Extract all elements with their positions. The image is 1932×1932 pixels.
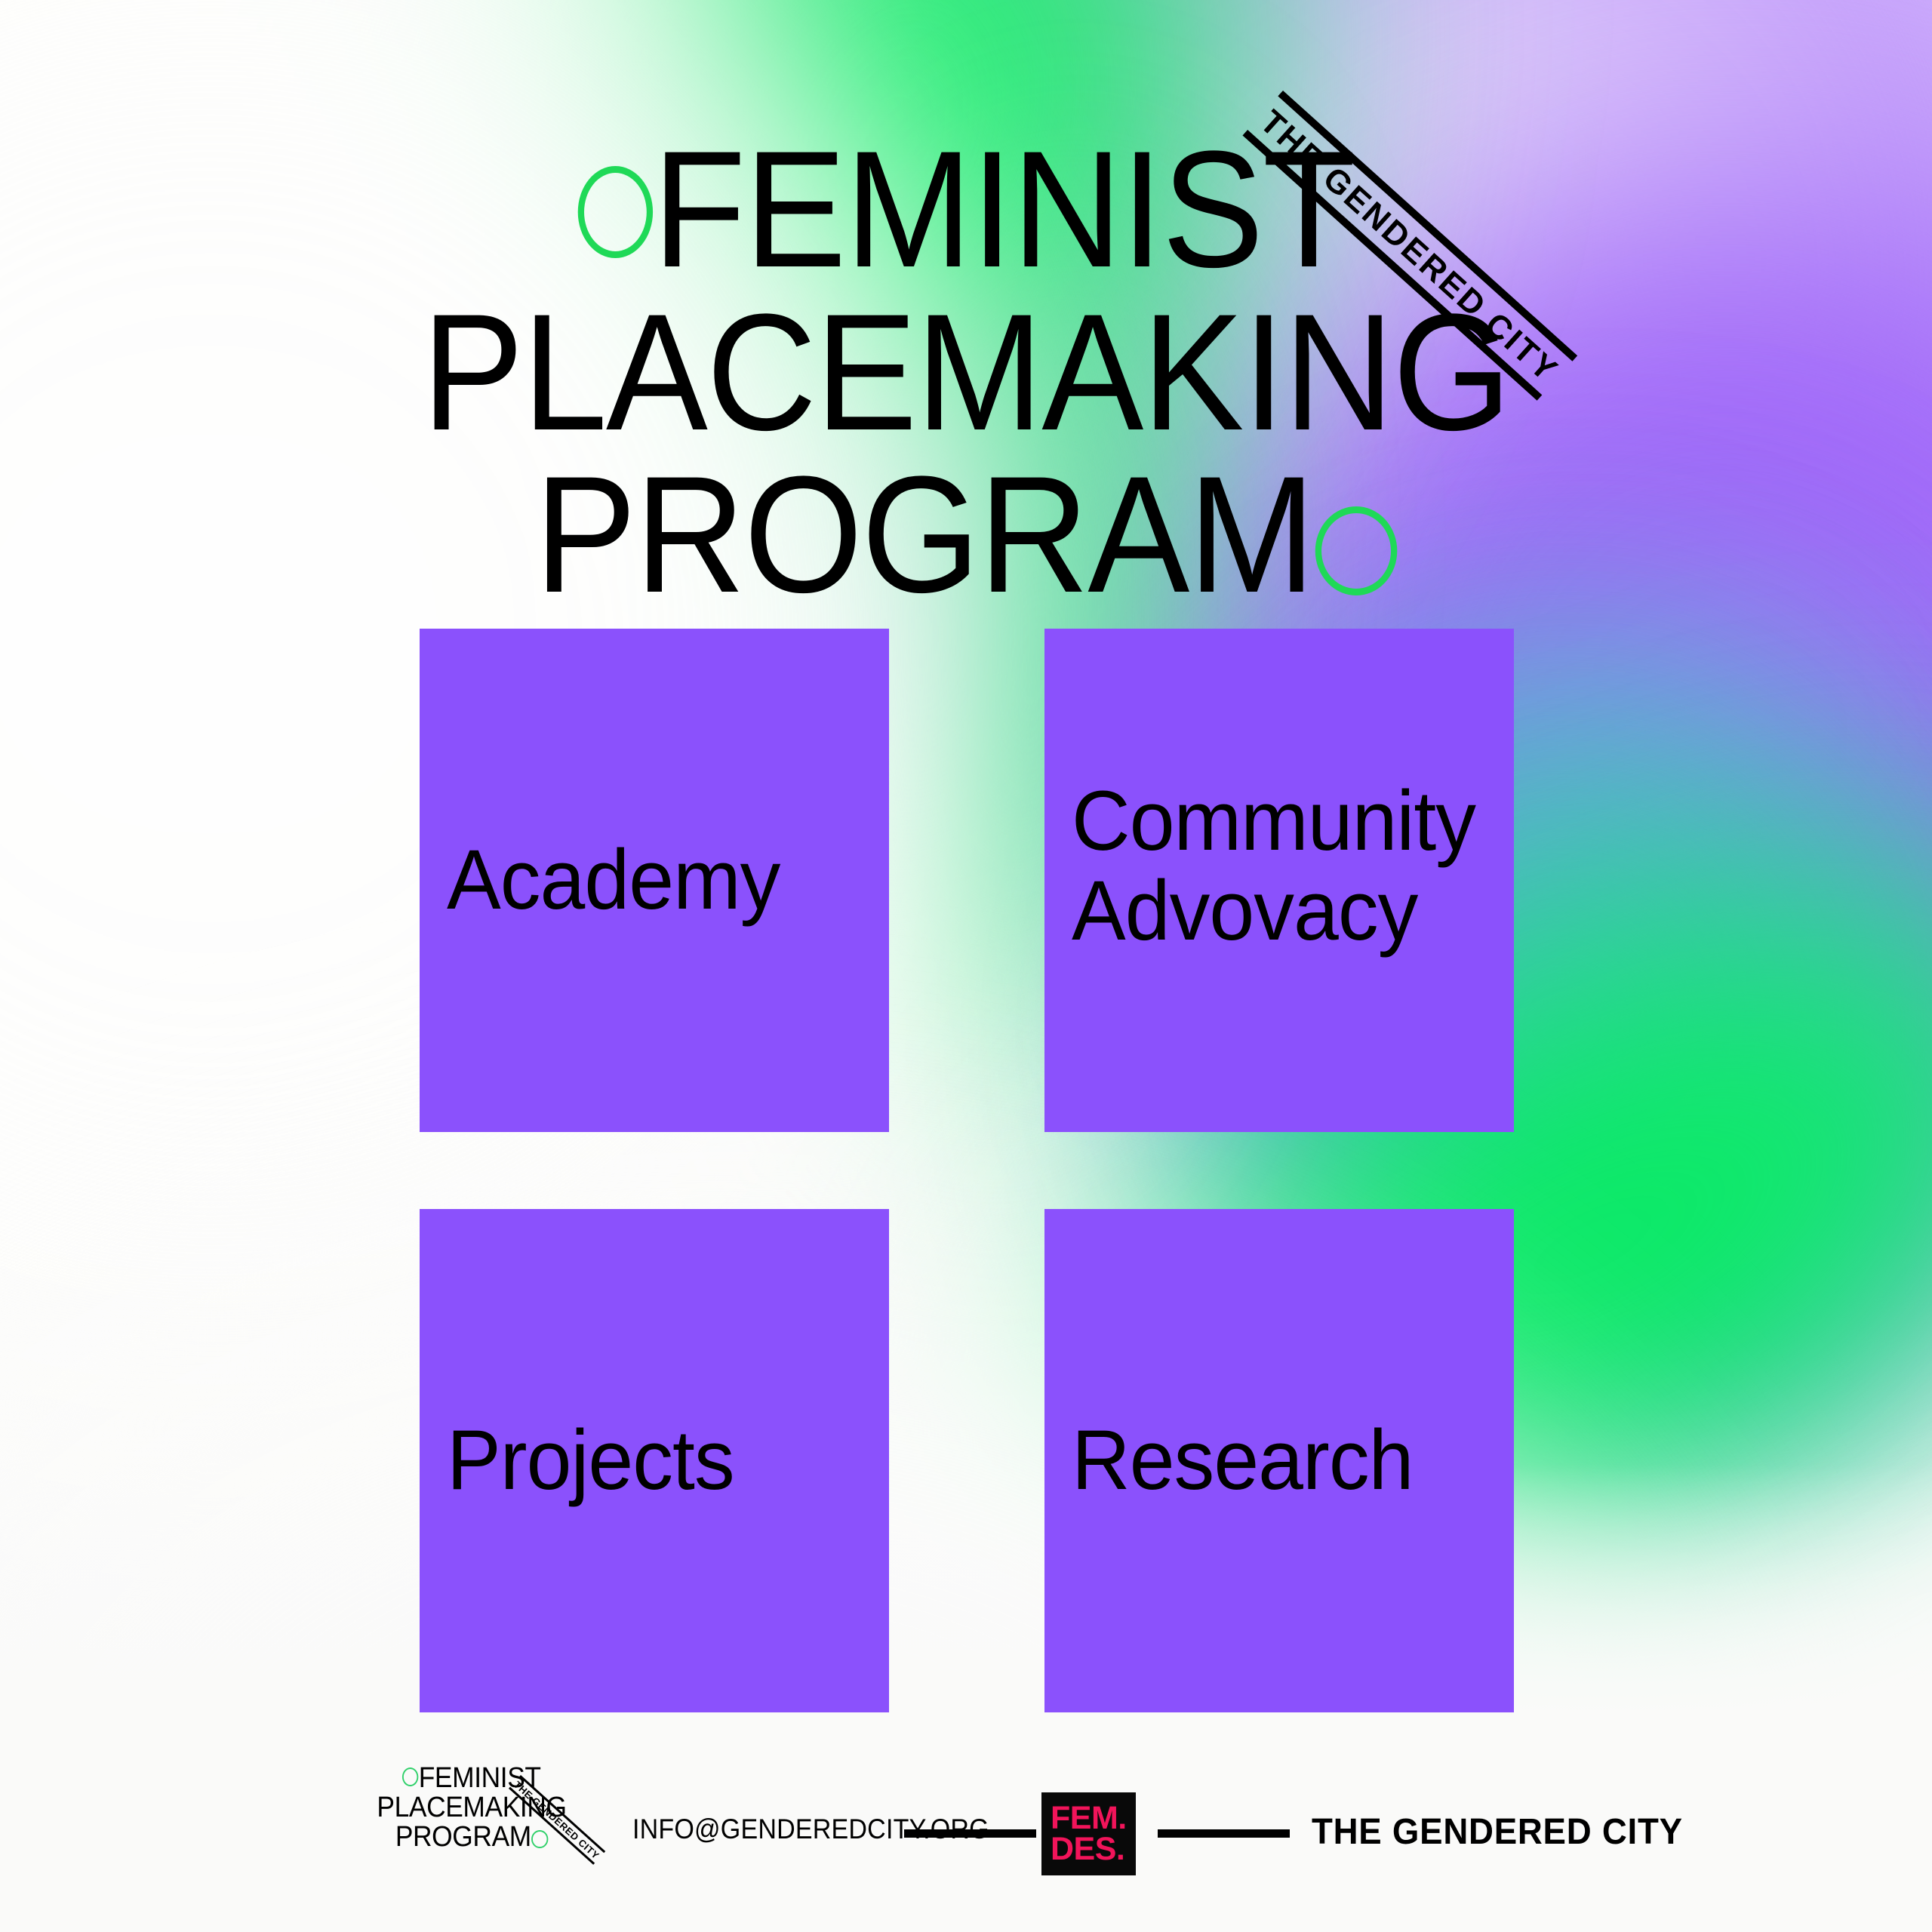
card-label: Research xyxy=(1072,1416,1413,1506)
femdes-line-2: DES. xyxy=(1051,1834,1136,1865)
card-label: Projects xyxy=(447,1416,734,1506)
card-label: Community Advovacy xyxy=(1072,777,1475,955)
footer-logo[interactable]: FEMINIST PLACEMAKING PROGRAM xyxy=(343,1764,600,1852)
card-academy[interactable]: Academy xyxy=(420,629,889,1132)
femdes-logo[interactable]: FEM. DES. xyxy=(1041,1792,1136,1875)
femdes-line-1: FEM. xyxy=(1051,1803,1136,1834)
card-label: Academy xyxy=(447,835,780,925)
card-label-line-2: Advovacy xyxy=(1072,866,1475,956)
headline-line-1: FEMINIST xyxy=(77,128,1854,291)
card-projects[interactable]: Projects xyxy=(420,1209,889,1712)
headline-word-placemaking: PLACEMAKING xyxy=(422,279,1510,465)
card-research[interactable]: Research xyxy=(1044,1209,1514,1712)
card-label-line-1: Community xyxy=(1072,777,1475,866)
horizontal-rule-icon xyxy=(904,1829,1036,1838)
card-community-advocacy[interactable]: Community Advovacy xyxy=(1044,629,1514,1132)
circle-outline-icon xyxy=(1315,506,1398,595)
horizontal-rule-icon xyxy=(1158,1829,1290,1838)
headline-line-3: PROGRAM xyxy=(77,454,1854,617)
page-title: FEMINIST PLACEMAKING PROGRAM xyxy=(77,128,1854,617)
footer-brand-name: THE GENDERED CITY xyxy=(1312,1811,1683,1853)
program-card-grid: Academy Community Advovacy Projects Rese… xyxy=(420,629,1514,1712)
footer-logo-line-1: FEMINIST xyxy=(352,1764,591,1793)
circle-outline-icon xyxy=(531,1830,548,1848)
circle-outline-icon xyxy=(402,1767,418,1786)
footer-logo-word-program: PROGRAM xyxy=(395,1821,531,1853)
headline-word-feminist: FEMINIST xyxy=(653,116,1355,302)
headline-line-2: PLACEMAKING xyxy=(77,291,1854,454)
poster-canvas: THE GENDERED CITY FEMINIST PLACEMAKING P… xyxy=(0,0,1932,1932)
headline-word-program: PROGRAM xyxy=(534,441,1314,627)
circle-outline-icon xyxy=(577,166,652,258)
